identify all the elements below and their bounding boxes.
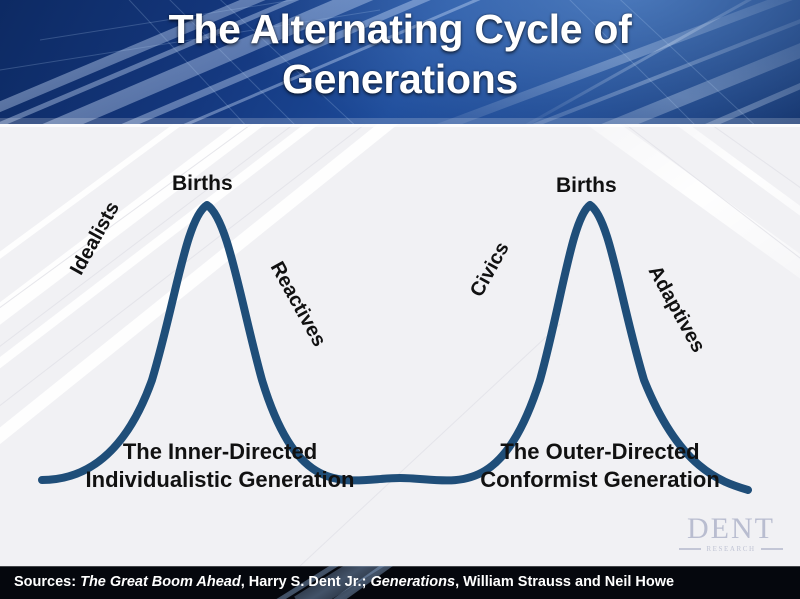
sources-author-1: , Harry S. Dent Jr.; bbox=[241, 574, 367, 590]
caption-outer-directed-line-2: Conformist Generation bbox=[440, 466, 760, 494]
title-block: The Alternating Cycle of Generations bbox=[0, 4, 800, 104]
slide-header: The Alternating Cycle of Generations bbox=[0, 0, 800, 124]
sources-work-1: The Great Boom Ahead bbox=[80, 574, 241, 590]
caption-outer-directed: The Outer-Directed Conformist Generation bbox=[440, 438, 760, 494]
peak-label-births-left: Births bbox=[172, 172, 233, 196]
slide: The Alternating Cycle of Generations bbox=[0, 0, 800, 599]
logo-subtitle: RESEARCH bbox=[706, 545, 755, 553]
sources-work-2: Generations bbox=[370, 574, 455, 590]
sources-author-2: , William Strauss and Neil Howe bbox=[455, 574, 674, 590]
caption-outer-directed-line-1: The Outer-Directed bbox=[440, 438, 760, 466]
dent-research-logo: DENT RESEARCH bbox=[672, 514, 790, 553]
caption-inner-directed-line-1: The Inner-Directed bbox=[60, 438, 380, 466]
logo-rule-right bbox=[761, 548, 783, 550]
logo-subtitle-row: RESEARCH bbox=[672, 545, 790, 553]
caption-inner-directed: The Inner-Directed Individualistic Gener… bbox=[60, 438, 380, 494]
page-title-line-1: The Alternating Cycle of bbox=[0, 4, 800, 54]
sources-text: Sources: The Great Boom Ahead, Harry S. … bbox=[14, 574, 674, 590]
logo-wordmark: DENT bbox=[672, 514, 790, 544]
body-light-streaks bbox=[0, 124, 800, 566]
page-title-line-2: Generations bbox=[0, 54, 800, 104]
sources-prefix: Sources: bbox=[14, 574, 76, 590]
slide-footer: Sources: The Great Boom Ahead, Harry S. … bbox=[0, 566, 800, 599]
peak-label-births-right: Births bbox=[556, 174, 617, 198]
logo-rule-left bbox=[679, 548, 701, 550]
diagram-canvas bbox=[0, 124, 800, 566]
caption-inner-directed-line-2: Individualistic Generation bbox=[60, 466, 380, 494]
